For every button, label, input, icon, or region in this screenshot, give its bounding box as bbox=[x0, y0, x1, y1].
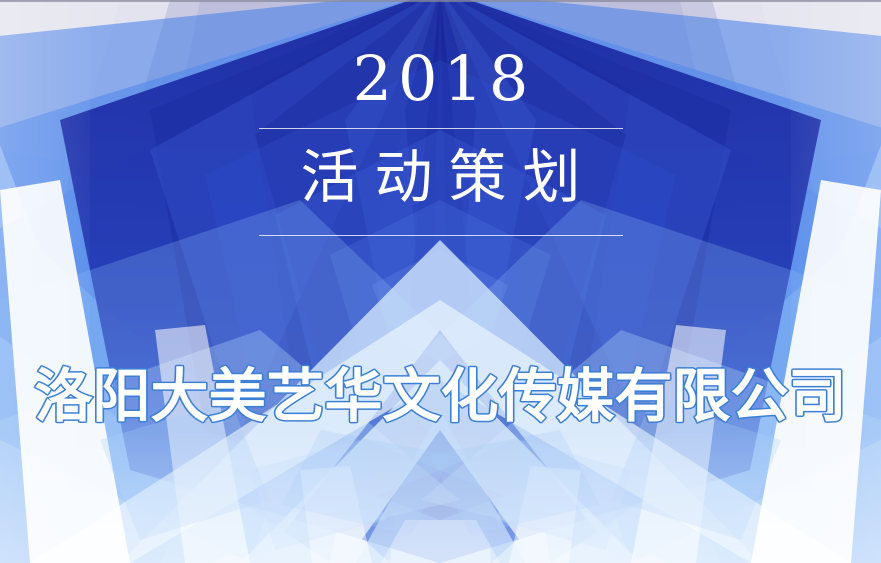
year-heading: 2018 bbox=[0, 46, 881, 112]
company-name: 洛阳大美艺华文化传媒有限公司 bbox=[0, 358, 881, 434]
presentation-slide: 2018 活动策划 洛阳大美艺华文化传媒有限公司 bbox=[0, 0, 881, 563]
slide-top-border bbox=[0, 0, 881, 2]
divider-rule-bottom bbox=[259, 235, 623, 236]
title-block: 2018 活动策划 bbox=[0, 46, 881, 236]
subtitle-heading: 活动策划 bbox=[0, 129, 881, 219]
